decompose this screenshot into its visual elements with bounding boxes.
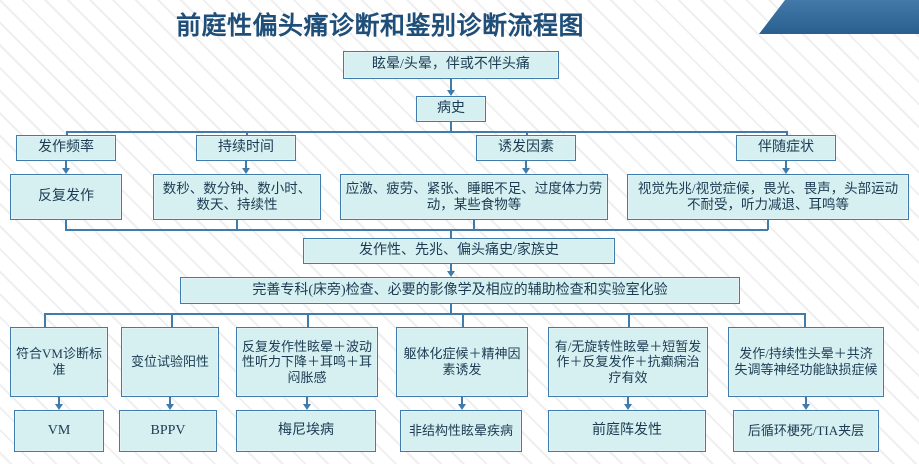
node-branch-frequency-value: 反复发作 <box>10 174 122 220</box>
header-banner-shape <box>759 0 919 34</box>
node-diagnosis-6: 后循环梗死/TIA夹层 <box>733 410 879 452</box>
branch-2-label-text: 持续时间 <box>218 139 274 156</box>
branch-1-label-text: 发作频率 <box>38 139 94 156</box>
branch-2-value-text: 数秒、数分钟、数小时、数天、持续性 <box>158 181 316 214</box>
node-root-label: 眩晕/头晕，伴或不伴头痛 <box>372 56 530 73</box>
branch-3-value-text: 应激、疲劳、紧张、睡眠不足、过度体力劳动，某些食物等 <box>345 181 603 214</box>
diagnosis-4-text: 非结构性眩晕疾病 <box>409 423 513 439</box>
branch-3-label-text: 诱发因素 <box>498 139 554 156</box>
connector-drop-criteria-4 <box>462 313 464 327</box>
criteria-1-text: 符合VM诊断标准 <box>15 346 103 377</box>
branch-4-value-text: 视觉先兆/视觉症候，畏光、畏声，头部运动不耐受，听力减退、耳鸣等 <box>632 181 904 214</box>
node-branch-trigger-value: 应激、疲劳、紧张、睡眠不足、过度体力劳动，某些食物等 <box>340 174 608 220</box>
node-criteria-2: 变位试验阳性 <box>121 327 219 397</box>
node-branch-duration-value: 数秒、数分钟、数小时、数天、持续性 <box>153 174 321 220</box>
node-criteria-5: 有/无旋转性眩晕＋短暂发作＋反复发作＋抗癫痫治疗有效 <box>548 327 708 397</box>
diagnosis-2-text: BPPV <box>150 422 185 439</box>
node-branch-frequency-label: 发作频率 <box>16 135 116 161</box>
connector-merge-stem <box>450 229 452 238</box>
node-branch-trigger-label: 诱发因素 <box>476 135 576 161</box>
criteria-3-text: 反复发作性眩晕＋波动性听力下降＋耳鸣＋耳闷胀感 <box>241 339 373 386</box>
node-workup: 完善专科(床旁)检查、必要的影像学及相应的辅助检查和实验室化验 <box>180 277 740 304</box>
connector-drop-criteria-1 <box>44 313 46 327</box>
node-diagnosis-1: VM <box>14 410 104 452</box>
node-criteria-6: 发作/持续性头晕＋共济失调等神经功能缺损症候 <box>728 327 884 397</box>
node-summary: 发作性、先兆、偏头痛史/家族史 <box>303 238 615 264</box>
connector-merge-bus <box>65 229 768 231</box>
node-history-label: 病史 <box>437 100 465 117</box>
node-diagnosis-4: 非结构性眩晕疾病 <box>400 410 522 452</box>
node-root: 眩晕/头晕，伴或不伴头痛 <box>343 51 559 79</box>
node-workup-label: 完善专科(床旁)检查、必要的影像学及相应的辅助检查和实验室化验 <box>252 282 667 299</box>
node-summary-label: 发作性、先兆、偏头痛史/家族史 <box>359 242 559 259</box>
connector-criteria-bus <box>44 313 804 315</box>
node-branch-duration-label: 持续时间 <box>196 135 296 161</box>
node-diagnosis-5: 前庭阵发性 <box>548 410 706 452</box>
node-diagnosis-2: BPPV <box>119 410 217 452</box>
diagnosis-1-text: VM <box>48 422 71 439</box>
node-diagnosis-3: 梅尼埃病 <box>236 410 376 452</box>
criteria-5-text: 有/无旋转性眩晕＋短暂发作＋反复发作＋抗癫痫治疗有效 <box>553 339 703 386</box>
connector-drop-criteria-5 <box>628 313 630 327</box>
connector-drop-criteria-6 <box>804 313 806 327</box>
branch-1-value-text: 反复发作 <box>38 188 94 205</box>
diagnosis-6-text: 后循环梗死/TIA夹层 <box>748 423 864 439</box>
criteria-6-text: 发作/持续性头晕＋共济失调等神经功能缺损症候 <box>733 346 879 377</box>
diagnosis-5-text: 前庭阵发性 <box>592 422 662 439</box>
node-criteria-1: 符合VM诊断标准 <box>10 327 108 397</box>
node-branch-associated-value: 视觉先兆/视觉症候，畏光、畏声，头部运动不耐受，听力减退、耳鸣等 <box>627 174 909 220</box>
node-criteria-3: 反复发作性眩晕＋波动性听力下降＋耳鸣＋耳闷胀感 <box>236 327 378 397</box>
connector-drop-criteria-3 <box>307 313 309 327</box>
branch-4-label-text: 伴随症状 <box>758 139 814 156</box>
node-history: 病史 <box>416 96 486 122</box>
connector-drop-criteria-2 <box>171 313 173 327</box>
connector-history-bus <box>66 131 786 133</box>
criteria-4-text: 躯体化症候＋精神因素诱发 <box>401 346 523 377</box>
node-criteria-4: 躯体化症候＋精神因素诱发 <box>396 327 528 397</box>
flowchart-canvas: 前庭性偏头痛诊断和鉴别诊断流程图 眩晕/头晕，伴或不伴头痛 病史 发作频率 持续… <box>0 0 919 464</box>
diagnosis-3-text: 梅尼埃病 <box>278 422 334 439</box>
node-branch-associated-label: 伴随症状 <box>736 135 836 161</box>
criteria-2-text: 变位试验阳性 <box>131 354 209 370</box>
page-title: 前庭性偏头痛诊断和鉴别诊断流程图 <box>0 6 760 42</box>
